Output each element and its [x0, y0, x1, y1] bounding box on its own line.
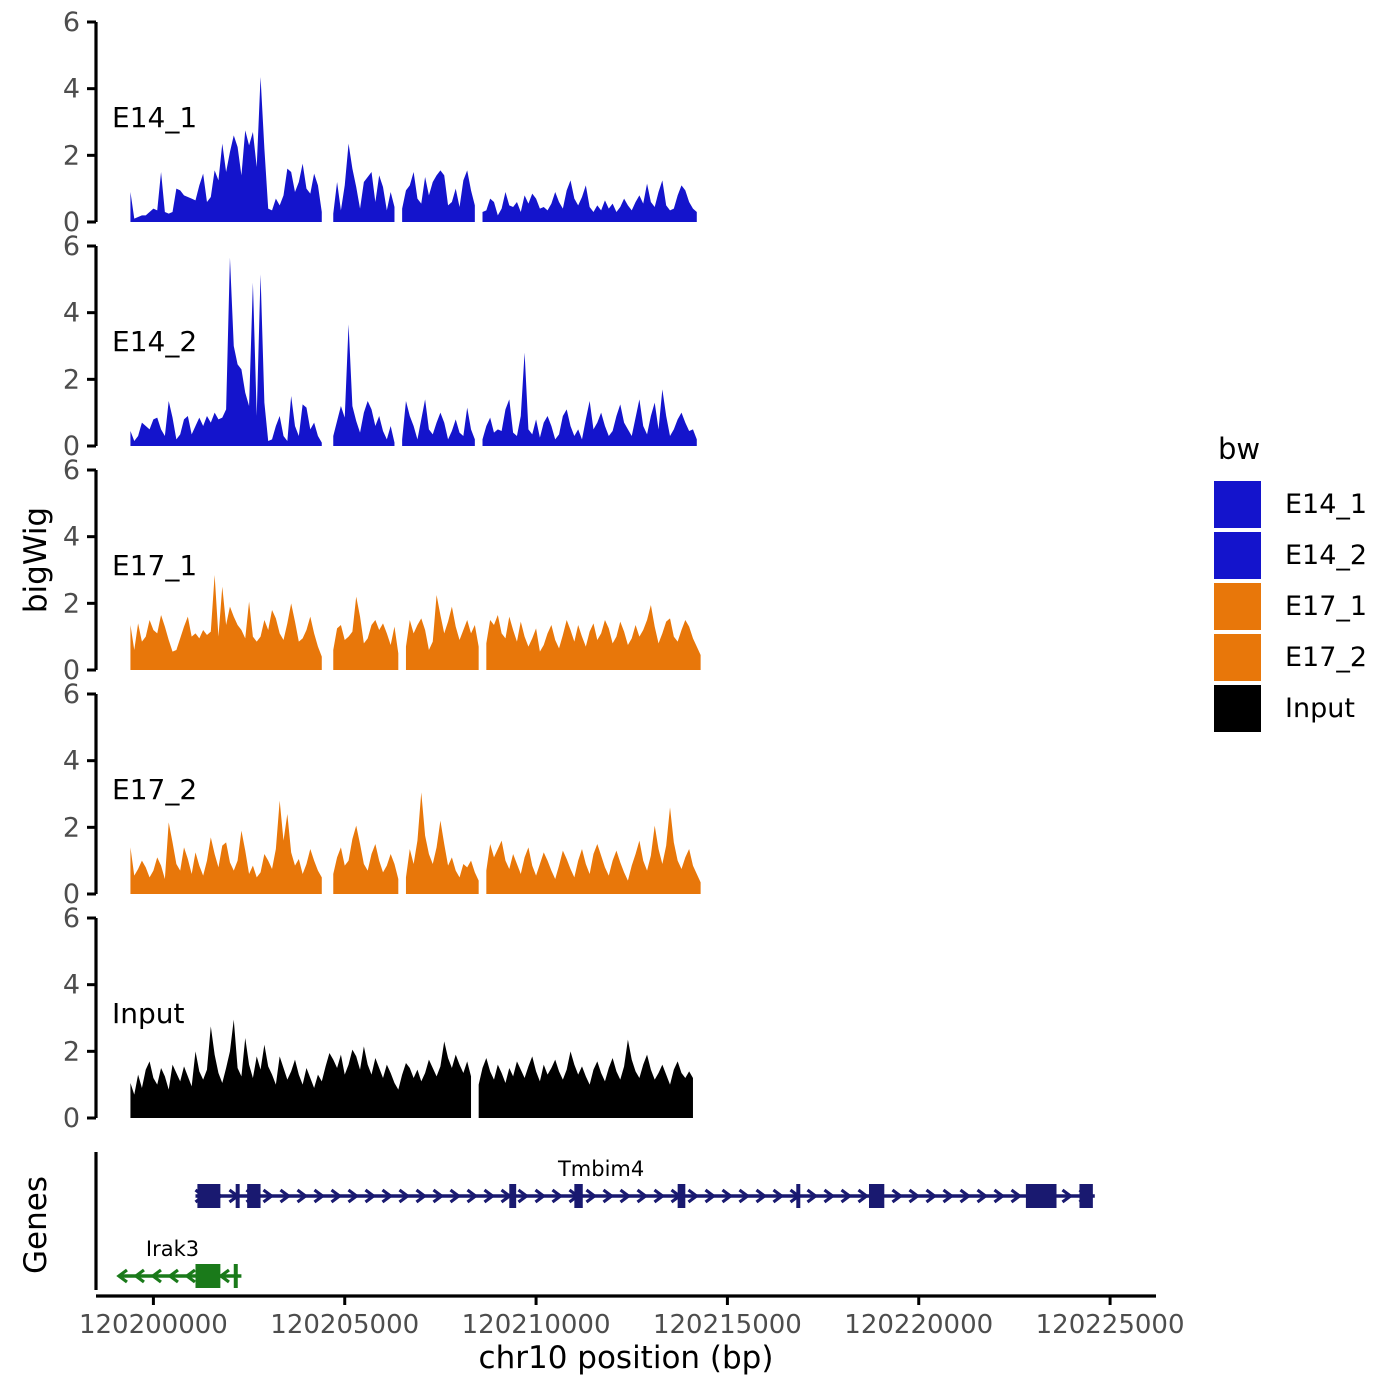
wiggle-area	[333, 597, 398, 670]
panel-e14_2: 0246E14_2	[63, 231, 697, 462]
x-tick-label: 120200000	[79, 1310, 228, 1340]
y-tick-label: 4	[63, 298, 80, 329]
wiggle-area	[130, 801, 321, 894]
gene-exon	[234, 1264, 238, 1288]
wiggle-area	[479, 1040, 693, 1118]
y-tick-label: 2	[63, 1036, 80, 1067]
genes-panel: Tmbim4Irak3	[96, 1152, 1095, 1290]
track-label: E17_1	[112, 549, 197, 582]
wiggle-area	[483, 180, 697, 222]
y-tick-label: 2	[63, 588, 80, 619]
gene-exon	[247, 1184, 260, 1208]
wiggle-area	[130, 575, 321, 670]
y-tick-label: 4	[63, 970, 80, 1001]
gene-exon	[195, 1264, 220, 1288]
track-label: E17_2	[112, 773, 197, 806]
y-tick-label: 6	[63, 679, 80, 710]
gene-label: Irak3	[146, 1237, 199, 1261]
wiggle-area	[486, 605, 700, 670]
gene-exon	[1026, 1184, 1057, 1208]
y-tick-label: 4	[63, 522, 80, 553]
wiggle-area	[333, 324, 394, 446]
wiggle-area	[333, 826, 398, 894]
gene-irak3[interactable]: Irak3	[119, 1237, 241, 1288]
gene-exon	[796, 1184, 800, 1208]
track-label: E14_2	[112, 325, 197, 358]
panel-e17_1: 0246E17_1	[63, 455, 701, 686]
y-tick-label: 2	[63, 812, 80, 843]
gene-tmbim4[interactable]: Tmbim4	[195, 1157, 1094, 1208]
x-tick-label: 120205000	[270, 1310, 419, 1340]
y-tick-label: 6	[63, 903, 80, 934]
wiggle-area	[483, 353, 697, 446]
gene-exon	[574, 1184, 582, 1208]
wiggle-area	[402, 399, 475, 446]
y-tick-label: 0	[63, 1103, 80, 1134]
panel-input: 0246Input	[63, 903, 693, 1134]
y-tick-label: 4	[63, 746, 80, 777]
gene-exon	[869, 1184, 884, 1208]
y-tick-label: 2	[63, 364, 80, 395]
x-tick-label: 120220000	[844, 1310, 993, 1340]
wiggle-area	[333, 144, 394, 222]
gene-label: Tmbim4	[557, 1157, 644, 1181]
gene-exon	[1079, 1184, 1092, 1208]
wiggle-area	[130, 1020, 471, 1118]
y-tick-label: 6	[63, 231, 80, 262]
wiggle-area	[406, 595, 479, 670]
panel-e17_2: 0246E17_2	[63, 679, 701, 910]
y-tick-label: 6	[63, 455, 80, 486]
x-tick-label: 120215000	[653, 1310, 802, 1340]
gene-exon	[509, 1184, 516, 1208]
y-tick-label: 4	[63, 74, 80, 105]
genome-browser-plot: 0246E14_10246E14_20246E17_10246E17_20246…	[0, 0, 1400, 1400]
x-tick-label: 120225000	[1036, 1310, 1185, 1340]
wiggle-area	[486, 807, 700, 894]
gene-exon	[678, 1184, 686, 1208]
track-label: E14_1	[112, 101, 197, 134]
wiggle-area	[130, 77, 321, 222]
y-tick-label: 6	[63, 7, 80, 38]
y-tick-label: 2	[63, 140, 80, 171]
x-tick-label: 120210000	[462, 1310, 611, 1340]
track-label: Input	[112, 997, 185, 1030]
gene-exon	[197, 1184, 220, 1208]
gene-exon	[236, 1184, 240, 1208]
panel-e14_1: 0246E14_1	[63, 7, 697, 238]
x-axis: 1202000001202050001202100001202150001202…	[79, 1296, 1185, 1340]
wiggle-area	[402, 170, 475, 222]
wiggle-area	[406, 792, 479, 894]
